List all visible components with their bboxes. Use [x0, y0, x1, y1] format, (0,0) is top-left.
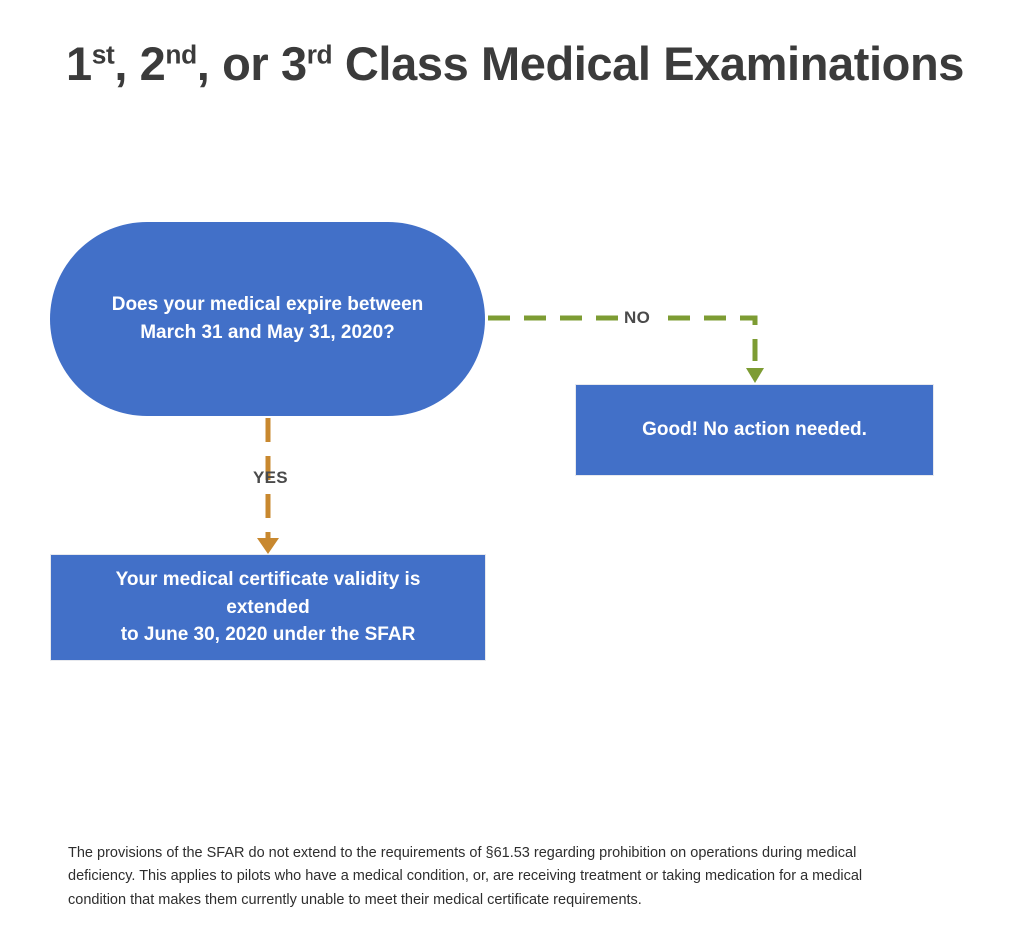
decision-node-line-2: March 31 and May 31, 2020? — [140, 322, 395, 343]
title-ordinal-1-number: 1 — [66, 37, 92, 90]
decision-node-medical-expiry[interactable]: Does your medical expire between March 3… — [50, 222, 485, 416]
page-title: 1st, 2nd, or 3rd Class Medical Examinati… — [62, 36, 968, 91]
outcome-node-validity-extended[interactable]: Your medical certificate validity is ext… — [51, 555, 485, 660]
outcome-node-yes-line-1: Your medical certificate validity is ext… — [116, 569, 421, 618]
outcome-node-yes-text: Your medical certificate validity is ext… — [73, 566, 463, 649]
decision-node-text: Does your medical expire between March 3… — [112, 291, 424, 346]
outcome-node-no-text: Good! No action needed. — [642, 416, 867, 444]
branch-label-yes: YES — [248, 468, 293, 488]
title-ordinal-3-number: 3 — [281, 37, 307, 90]
branch-label-no: NO — [619, 308, 655, 328]
outcome-node-yes-line-2: to June 30, 2020 under the SFAR — [121, 624, 416, 645]
flowchart-page: 1st, 2nd, or 3rd Class Medical Examinati… — [0, 0, 1024, 925]
outcome-node-no-action-needed[interactable]: Good! No action needed. — [576, 385, 933, 475]
title-ordinal-2-number: 2 — [140, 37, 166, 90]
no-branch-arrowhead — [746, 368, 764, 383]
yes-branch-arrowhead — [257, 538, 279, 554]
title-ordinal-1-suffix: st — [92, 39, 115, 69]
title-ordinal-3-suffix: rd — [307, 39, 333, 69]
footnote-text: The provisions of the SFAR do not extend… — [68, 842, 888, 912]
decision-node-line-1: Does your medical expire between — [112, 294, 424, 315]
title-ordinal-2-suffix: nd — [165, 39, 196, 69]
title-separator-2: , or — [197, 37, 281, 90]
title-separator-1: , — [114, 37, 139, 90]
title-tail: Class Medical Examinations — [332, 37, 964, 90]
